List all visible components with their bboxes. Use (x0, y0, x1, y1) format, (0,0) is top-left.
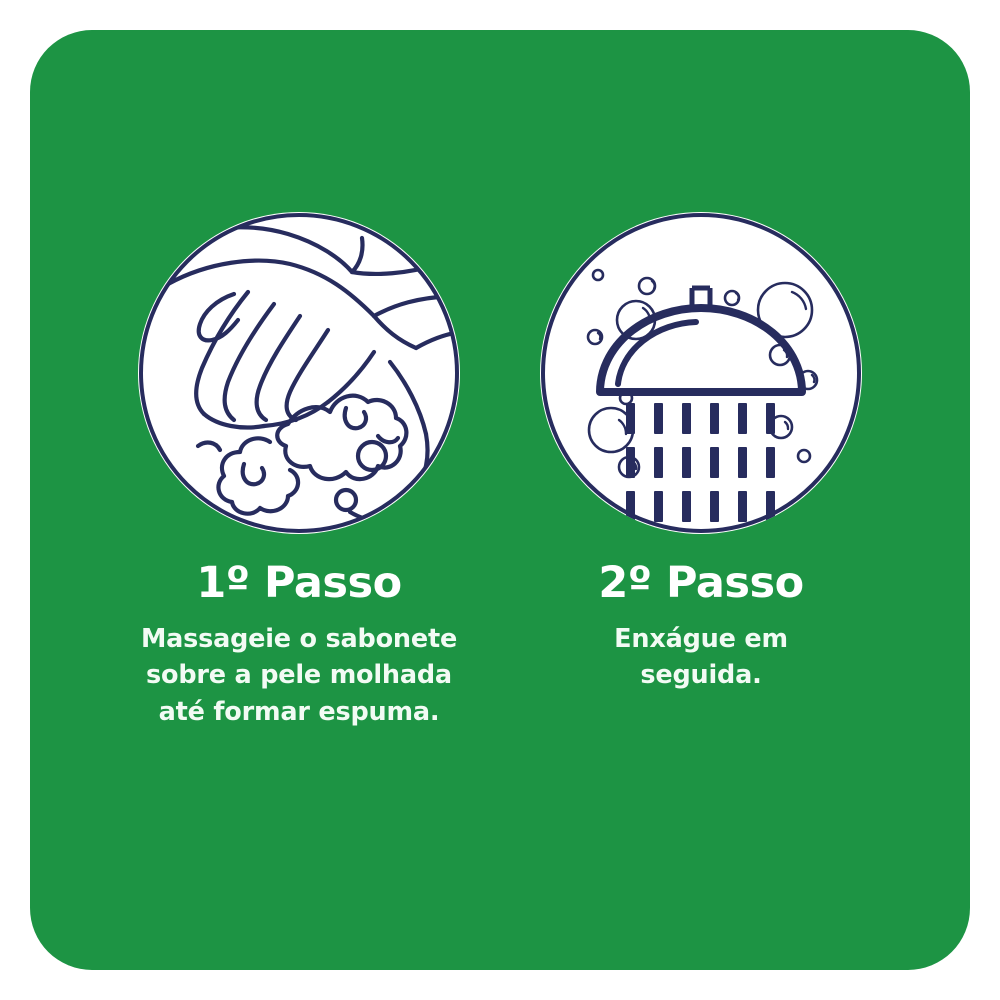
step-1-description-line-3: até formar espuma. (134, 694, 464, 730)
step-2-description: Enxágue em seguida. (536, 621, 866, 693)
step-2-description-line-2: seguida. (536, 657, 866, 693)
instruction-card-canvas: 1º Passo Massageie o sabonete sobre a pe… (0, 0, 1000, 1000)
step-2: 2º Passo Enxágue em seguida. (500, 30, 902, 694)
step-2-title: 2º Passo (598, 561, 803, 606)
step-2-illustration-circle (540, 212, 862, 534)
step-2-description-line-1: Enxágue em (536, 621, 866, 657)
steps-container: 1º Passo Massageie o sabonete sobre a pe… (30, 30, 970, 970)
step-1-description-line-1: Massageie o sabonete (134, 621, 464, 657)
hand-massaging-foam-icon (138, 212, 460, 534)
step-1-illustration-circle (138, 212, 460, 534)
step-1-description-line-2: sobre a pele molhada (134, 657, 464, 693)
step-1-description: Massageie o sabonete sobre a pele molhad… (134, 621, 464, 730)
shower-head-water-icon (540, 212, 862, 534)
step-1-title: 1º Passo (196, 561, 401, 606)
step-1: 1º Passo Massageie o sabonete sobre a pe… (98, 30, 500, 730)
